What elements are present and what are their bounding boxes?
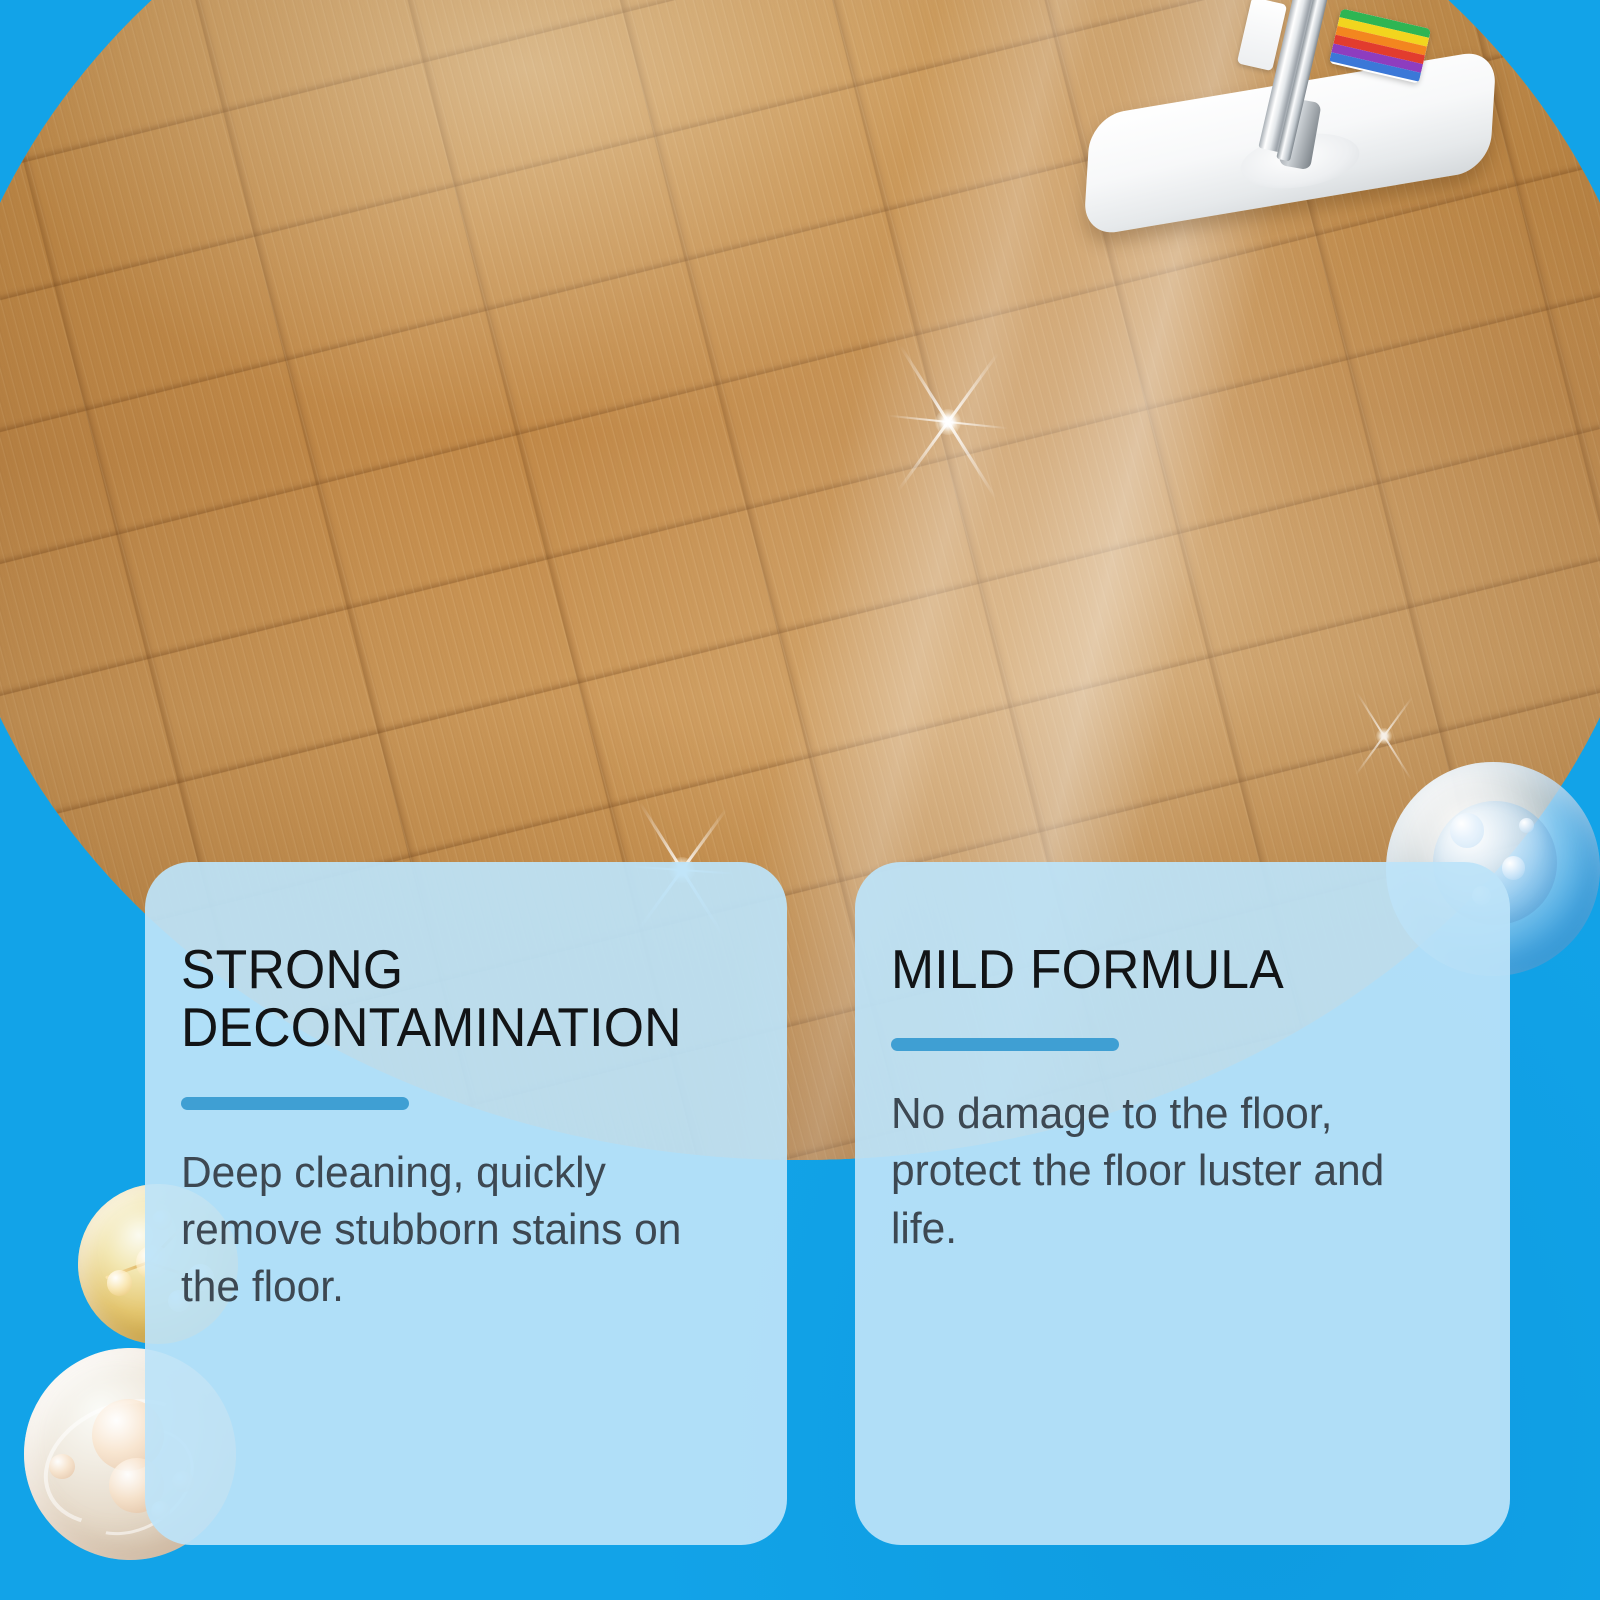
accent-divider: [891, 1038, 1119, 1051]
feature-card-title: STRONG DECONTAMINATION: [181, 940, 698, 1057]
feature-card-mild-formula[interactable]: MILD FORMULA No damage to the floor, pro…: [855, 862, 1510, 1545]
sofa: [0, 0, 460, 10]
feature-card-title: MILD FORMULA: [891, 940, 1420, 998]
feature-card-body: No damage to the floor, protect the floo…: [891, 1085, 1431, 1257]
product-feature-banner: STRONG DECONTAMINATION Deep cleaning, qu…: [0, 0, 1600, 1600]
rainbow-tag-icon: [1329, 8, 1431, 83]
flat-mop-product: [1062, 0, 1600, 340]
feature-card-body: Deep cleaning, quickly remove stubborn s…: [181, 1144, 712, 1316]
feature-card-strong-decontamination[interactable]: STRONG DECONTAMINATION Deep cleaning, qu…: [145, 862, 787, 1545]
accent-divider: [181, 1097, 409, 1110]
